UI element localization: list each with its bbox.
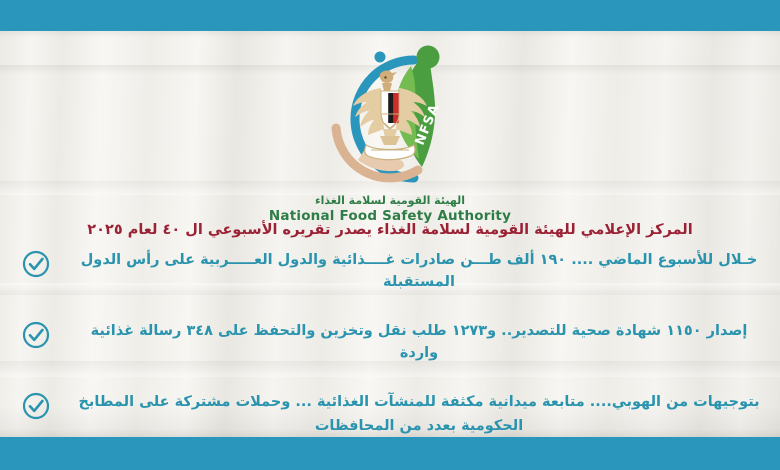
check-cell [0, 390, 72, 420]
infographic-canvas: NFSA [0, 0, 780, 470]
bullet-text-3-wrapper: بتوجيهات من الهوبي.... متابعة ميدانية مك… [72, 390, 766, 437]
organization-logo: NFSA [0, 44, 780, 224]
bullet-text-3-line2: الحكومية بعدد من المحافظات [72, 415, 766, 437]
list-item: خـلال للأسبوع الماضي .... ١٩٠ ألف طـــن … [0, 248, 780, 293]
bottom-color-band [0, 437, 780, 470]
bullet-text-1: خـلال للأسبوع الماضي .... ١٩٠ ألف طـــن … [72, 248, 766, 293]
logo-name-arabic: الهيئة القومية لسلامة الغذاء [0, 194, 780, 207]
check-circle-icon [22, 392, 50, 420]
bullet-text-3: بتوجيهات من الهوبي.... متابعة ميدانية مك… [78, 394, 759, 410]
check-circle-icon [22, 321, 50, 349]
check-cell [0, 248, 72, 278]
check-cell [0, 319, 72, 349]
page-title: المركز الإعلامي للهيئة القومية لسلامة ال… [0, 222, 780, 238]
bullet-list: خـلال للأسبوع الماضي .... ١٩٠ ألف طـــن … [0, 248, 780, 437]
top-color-band [0, 0, 780, 31]
list-item: بتوجيهات من الهوبي.... متابعة ميدانية مك… [0, 390, 780, 437]
bullet-text-2: إصدار ١١٥٠ شهادة صحية للتصدير.. و١٢٧٣ طل… [72, 319, 766, 364]
list-item: إصدار ١١٥٠ شهادة صحية للتصدير.. و١٢٧٣ طل… [0, 319, 780, 364]
nfsa-logo-mark: NFSA [310, 44, 470, 194]
check-circle-icon [22, 250, 50, 278]
